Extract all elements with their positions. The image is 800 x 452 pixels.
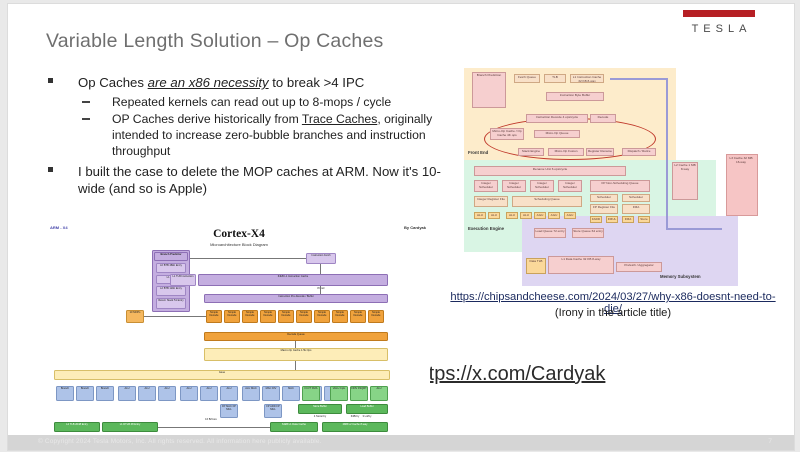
cortex-exec-unit: ALU — [220, 386, 238, 401]
profile-link[interactable]: https://x.com/Cardyak — [412, 363, 605, 386]
cortex-exec-unit: ALU — [138, 386, 156, 401]
bullet-marker-dash — [82, 101, 90, 103]
bullet-item-4: I built the case to delete the MOP cache… — [46, 163, 466, 197]
zone-label-memory-subsystem: Memory Subsystem — [660, 274, 701, 279]
cortex-wire-bp-to-fetch — [190, 258, 306, 259]
cortex-load-buffer: Load Buffer — [346, 404, 388, 414]
block-alu: ALU — [488, 212, 500, 219]
copyright-text: © Copyright 2024 Tesla Motors, Inc. All … — [38, 438, 322, 445]
cortex-wire-icache-down — [320, 286, 321, 294]
cortex-decoder: Simple Decode — [242, 310, 258, 323]
cortex-wire-dq-to-mop — [295, 341, 296, 348]
block-itlb: TLB — [544, 74, 566, 83]
bullet-marker-square — [48, 78, 53, 83]
cortex-decoder: Simple Decode — [260, 310, 276, 323]
block-alu: ALU — [506, 212, 518, 219]
block-fp-nonscheduling-queue: FP Non-Scheduling Queue — [590, 180, 650, 192]
block-store: Store — [638, 216, 650, 223]
tesla-wordmark: TESLA — [678, 23, 760, 35]
cortex-exec-unit: MAC — [282, 386, 300, 401]
block-alu: ALU — [474, 212, 486, 219]
block-alu: ALU — [520, 212, 532, 219]
cortex-l1-icache: 64kB L1 Instruction Cache — [198, 274, 388, 286]
cortex-decoder: Simple Decode — [368, 310, 384, 323]
interconnect-horizontal-2 — [666, 228, 722, 230]
block-agu: AGU — [534, 212, 546, 219]
cortex-decoder: Simple Decode — [278, 310, 294, 323]
cortex-exec-unit: ALU — [200, 386, 218, 401]
bullet-marker-square — [48, 167, 53, 172]
cortex-fetch-bandwidth: 8 Instr — [306, 287, 336, 292]
cortex-decoder: Simple Decode — [314, 310, 330, 323]
bullet-item-2: Repeated kernels can read out up to 8-mo… — [46, 94, 466, 110]
cortex-exec-unit: ALU — [118, 386, 136, 401]
cortex-l0-btb: L0 BTB 48kb Entry — [156, 263, 186, 273]
cortex-decoder: Simple Decode — [350, 310, 366, 323]
block-integer-scheduler: Integer Scheduler — [474, 180, 498, 192]
cortex-wire-mop-to-decode — [144, 316, 206, 317]
block-micro-op-queue: Micro-Op Queue — [534, 130, 580, 138]
block-agu: AGU — [564, 212, 576, 219]
cortex-mop-cache-feed: 10 MOPs — [126, 310, 144, 323]
cortex-branch-predictor-header: Branch Predictor — [154, 252, 188, 261]
cortex-title: Cortex-X4 — [48, 228, 430, 240]
tesla-logo: TESLA — [678, 10, 760, 35]
block-instruction-byte-buffer: Instruction Byte Buffer — [546, 92, 604, 101]
block-fma: FMA — [622, 216, 634, 223]
block-integer-scheduler: Integer Scheduler — [530, 180, 554, 192]
cortex-exec-unit: Branch — [76, 386, 94, 401]
block-load-queue: Load Queue 72 entry — [534, 228, 566, 238]
cortex-fp-unit: FCVT FMA — [302, 386, 320, 401]
article-note: (Irony in the article title) — [448, 307, 778, 319]
block-agu: AGU — [548, 212, 560, 219]
block-l1-data-cache: L1 Data Cache 32 KB 8-way — [548, 256, 614, 274]
interconnect-vertical — [666, 78, 668, 230]
cortex-core-bw: 16 B/Core — [188, 418, 234, 423]
cortex-wire-fetch-down — [320, 264, 321, 274]
block-fp-pipe: FMA — [622, 204, 650, 214]
block-l1-instruction-cache: L1 Instruction Cache 32 KB 8-way — [570, 74, 604, 83]
cortex-decode-queue: Decode Queue — [204, 332, 388, 341]
block-fmul: FMUL — [606, 216, 618, 223]
page-number: 7 — [768, 438, 772, 445]
block-register-rename: Register Rename — [586, 148, 614, 156]
cortex-l2-cache: 2MB L2 Cache 8-way — [322, 422, 388, 432]
block-integer-scheduler: Integer Scheduler — [558, 180, 582, 192]
block-fetch-queue: Fetch Queue — [514, 74, 540, 83]
zone-memory-subsystem — [522, 216, 738, 286]
block-integer-scheduler: Integer Scheduler — [502, 180, 526, 192]
block-branch-prediction: Branch Prediction — [472, 72, 506, 108]
cortex-x4-diagram: ARM - X4 By Cardyak Cortex-X4 Microarchi… — [48, 222, 430, 434]
bullet-list: Op Caches are an x86 necessity to break … — [46, 74, 466, 200]
block-data-tlb: Data TLB — [526, 258, 546, 274]
cortex-l2-tlb: L2 TLB 2048 Entry — [54, 422, 100, 432]
cortex-decoder: Simple Decode — [224, 310, 240, 323]
cortex-fp-unit: VALU Cplx — [330, 386, 348, 401]
cortex-l1-data-cache: 64kB L1 Data Cache — [270, 422, 318, 432]
zen-microarchitecture-diagram: Branch Prediction Fetch Queue TLB L1 Ins… — [460, 66, 762, 288]
bullet-text-2: Repeated kernels can read out up to 8-mo… — [112, 95, 391, 109]
cortex-exec-unit: Branch — [56, 386, 74, 401]
cortex-l1-dtlb: L1 DTLB 48 Entry — [102, 422, 158, 432]
block-store-queue: Store Queue 64 entry — [572, 228, 604, 238]
block-scheduling-queue: Scheduling Queue — [512, 196, 582, 207]
block-integer-register-file: Integer Register File — [474, 196, 508, 207]
cortex-l1-itlb: L1 TLB Instruction — [170, 274, 196, 286]
cortex-decoder: Simple Decode — [206, 310, 222, 323]
block-fp-scheduler: Scheduler — [590, 194, 618, 202]
bullet-item-1: Op Caches are an x86 necessity to break … — [46, 74, 466, 91]
cortex-exec-unit: MAC DIV — [262, 386, 280, 401]
cortex-subtitle: Microarchitecture Block Diagram — [48, 242, 430, 247]
block-fp-scheduler: Scheduler — [622, 194, 650, 202]
cortex-predecode: Instruction Pre-Decode / Buffer — [204, 294, 388, 303]
zone-label-execution-engine: Execution Engine — [468, 226, 504, 231]
cortex-l2-bw: 64B/Cy — [322, 415, 388, 420]
bullet-item-3: OP Caches derive historically from Trace… — [46, 111, 466, 159]
cortex-decoder: Simple Decode — [296, 310, 312, 323]
cortex-issue-bar: Issue — [54, 370, 390, 380]
cortex-instruction-fetch: Instruction Fetch — [306, 253, 336, 264]
block-fp-register-file: FP Register File — [590, 204, 618, 214]
cortex-l2-btb: L2 BTB 12kb Entry — [156, 286, 186, 296]
block-l2-cache: L2 Cache 1 MB 8-way — [672, 162, 698, 200]
tesla-logo-bar — [683, 10, 755, 17]
slide-footer: © Copyright 2024 Tesla Motors, Inc. All … — [8, 435, 794, 450]
block-l3-cache-label: L3 Cache 32 MB 16-way — [728, 156, 754, 212]
cortex-exec-unit: Branch — [96, 386, 114, 401]
bullet-marker-dash — [82, 118, 90, 120]
cortex-fp-sub: FP ADD FP MUL — [264, 404, 282, 418]
cortex-decoder: Simple Decode — [332, 310, 348, 323]
slide-canvas: TESLA Variable Length Solution – Op Cach… — [7, 3, 795, 451]
block-rename-unit: Rename Unit 6 ops/cycle — [474, 166, 626, 176]
cortex-exec-unit: ALU — [180, 386, 198, 401]
zone-label-frontend: Front End — [468, 150, 488, 155]
cortex-wire-tlb-to-cache — [158, 427, 270, 428]
bullet-text-4: I built the case to delete the MOP cache… — [78, 164, 441, 196]
block-stack-engine: Stack Engine — [518, 148, 544, 156]
cortex-exec-unit: ALU — [158, 386, 176, 401]
block-dispatch-retire: Dispatch / Retire — [622, 148, 656, 156]
cortex-store-buffer: Store Buffer — [298, 404, 342, 414]
cortex-return-stack: Return Stack 51 Entry — [156, 298, 186, 309]
block-fadd: FADD — [590, 216, 602, 223]
interconnect-horizontal — [610, 78, 668, 80]
block-micro-op-cache: Micro-Op Cache / Op Cache 4K ops — [490, 128, 524, 140]
block-micro-op-fusion: Micro-Op Fusion — [548, 148, 584, 156]
bullet-text-3: OP Caches derive historically from Trace… — [112, 112, 432, 158]
zen-diagram-canvas: Branch Prediction Fetch Queue TLB L1 Ins… — [460, 66, 762, 288]
page-title: Variable Length Solution – Op Caches — [46, 30, 383, 53]
cortex-exec-unit: ALU MAC — [242, 386, 260, 401]
bullet-text-1: Op Caches are an x86 necessity to break … — [78, 75, 364, 90]
cortex-macro-op-cache: Macro-Op Cache 1.5k Ops — [204, 348, 388, 361]
cortex-fp-unit: FDIV FSQRT — [350, 386, 368, 401]
cortex-fp-sub: FP MAC FP MUL — [220, 404, 238, 418]
cortex-fp-unit: ALU — [370, 386, 388, 401]
block-decode: Decode — [590, 114, 616, 123]
block-prefetch-aggregator: Prefetch / Aggregator — [616, 262, 662, 272]
block-instruction-decode: Instruction Decode 4 ops/cycle — [526, 114, 588, 123]
